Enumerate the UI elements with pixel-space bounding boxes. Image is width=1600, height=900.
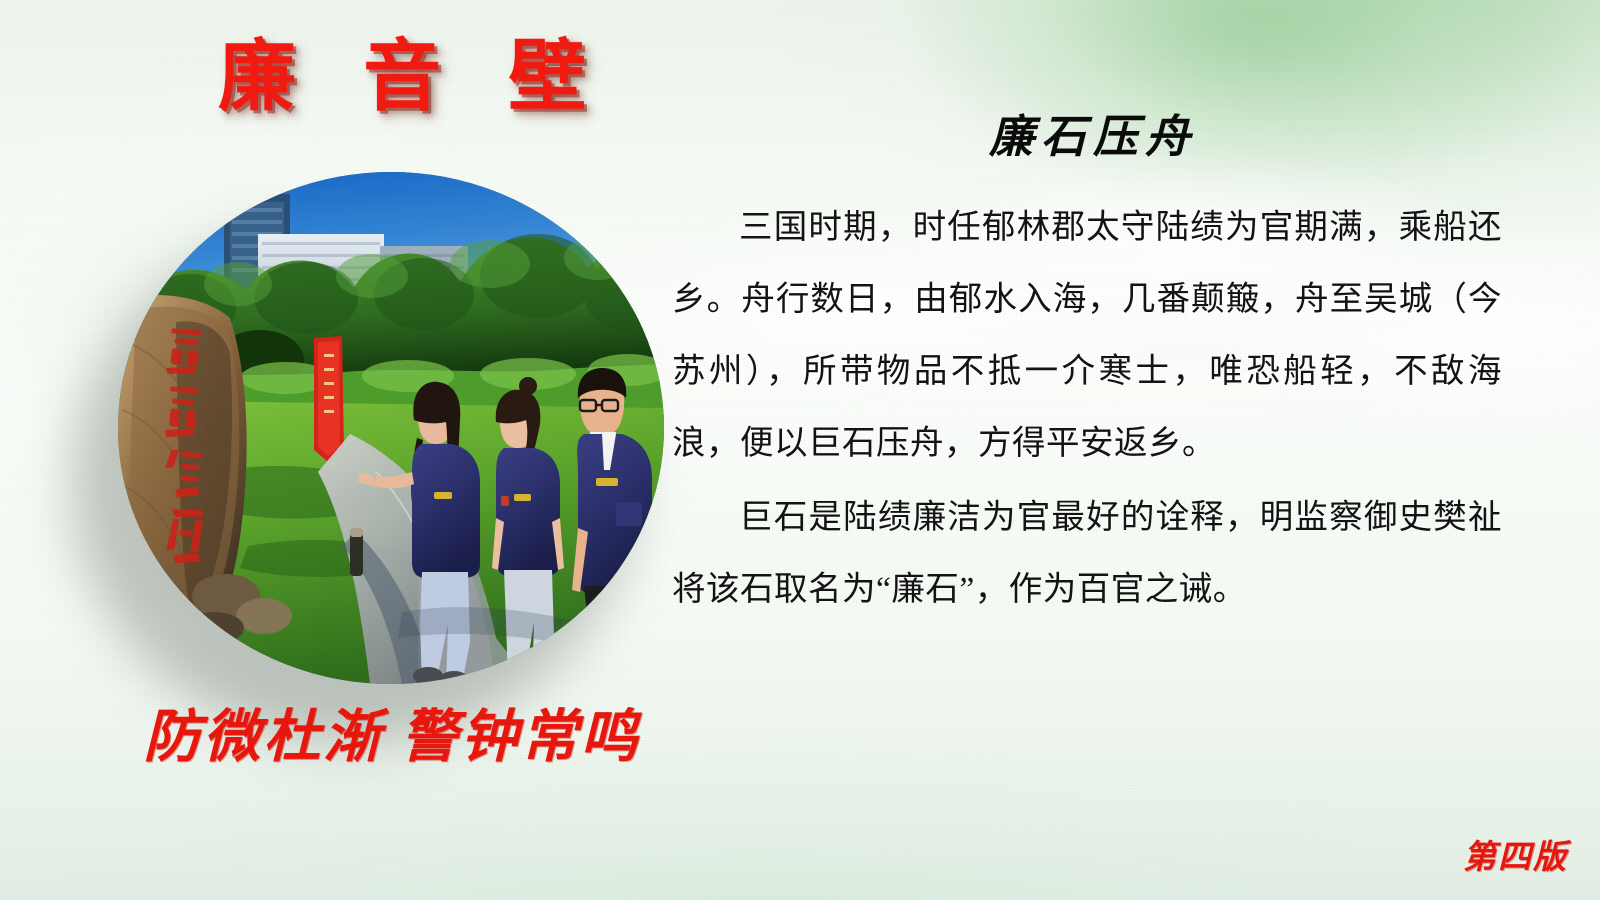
article-paragraph: 三国时期，时任郁林郡太守陆绩为官期满，乘船还乡。舟行数日，由郁水入海，几番颠簸，… bbox=[672, 192, 1502, 480]
article-title: 廉石压舟 bbox=[672, 110, 1502, 164]
bottom-slogan: 防微杜渐 警钟常鸣 bbox=[122, 706, 662, 770]
article-paragraph: 巨石是陆绩廉洁为官最好的诠释，明监察御史樊祉将该石取名为“廉石”，作为百官之诫。 bbox=[672, 482, 1502, 626]
edition-badge: 第四版 bbox=[1463, 830, 1568, 878]
photo-figure bbox=[118, 172, 664, 684]
masthead-title: 廉 音 壁 bbox=[218, 38, 606, 116]
article-column: 廉石压舟 三国时期，时任郁林郡太守陆绩为官期满，乘船还乡。舟行数日，由郁水入海，… bbox=[672, 110, 1502, 626]
circular-photo bbox=[118, 172, 664, 684]
poster-page: 廉 音 壁 bbox=[0, 0, 1600, 900]
article-body: 三国时期，时任郁林郡太守陆绩为官期满，乘船还乡。舟行数日，由郁水入海，几番颠簸，… bbox=[672, 190, 1502, 626]
